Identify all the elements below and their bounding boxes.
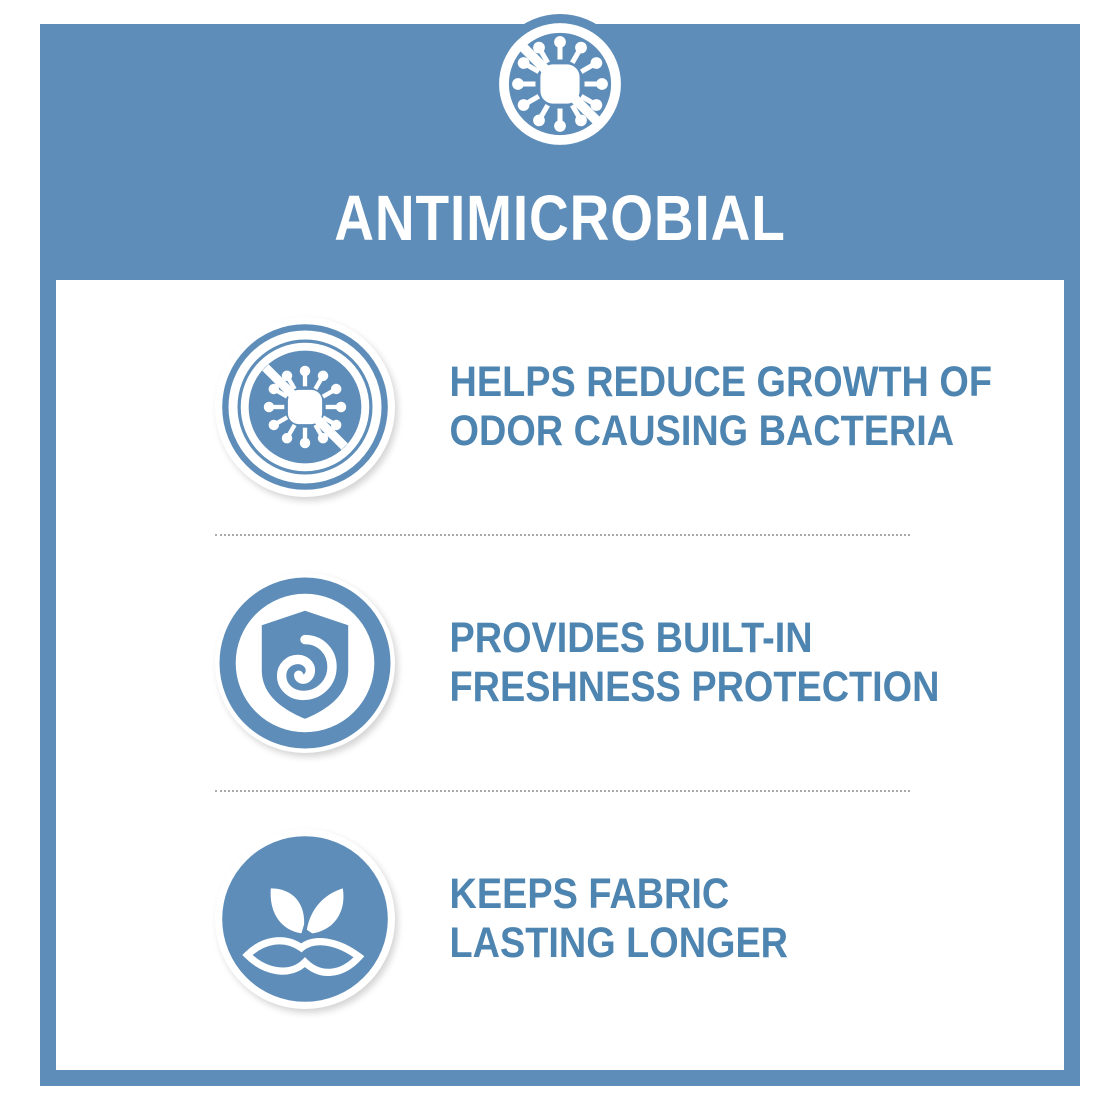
- feature-line-1: HELPS REDUCE GROWTH OF: [450, 358, 992, 407]
- feature-line-2: FRESHNESS PROTECTION: [450, 663, 984, 712]
- feature-text-fabric: KEEPS FABRIC LASTING LONGER: [395, 870, 984, 968]
- row-divider-2: [215, 790, 910, 792]
- antimicrobial-infographic: ANTIMICROBIAL: [0, 0, 1120, 1120]
- features-panel: HELPS REDUCE GROWTH OF ODOR CAUSING BACT…: [56, 280, 1064, 1070]
- leaf-fabric-icon: [215, 829, 395, 1009]
- feature-list: HELPS REDUCE GROWTH OF ODOR CAUSING BACT…: [56, 280, 1064, 1046]
- feature-text-bacteria: HELPS REDUCE GROWTH OF ODOR CAUSING BACT…: [395, 358, 992, 456]
- feature-row-fabric: KEEPS FABRIC LASTING LONGER: [56, 792, 1064, 1046]
- no-bacteria-icon: [490, 14, 630, 154]
- feature-line-1: KEEPS FABRIC: [450, 870, 984, 919]
- feature-row-freshness: PROVIDES BUILT-IN FRESHNESS PROTECTION: [56, 536, 1064, 790]
- no-bacteria-ring-icon: [215, 317, 395, 497]
- row-divider-1: [215, 534, 910, 536]
- feature-line-1: PROVIDES BUILT-IN: [450, 614, 984, 663]
- feature-row-bacteria: HELPS REDUCE GROWTH OF ODOR CAUSING BACT…: [56, 280, 1064, 534]
- feature-line-2: ODOR CAUSING BACTERIA: [450, 407, 992, 456]
- feature-text-freshness: PROVIDES BUILT-IN FRESHNESS PROTECTION: [395, 614, 984, 712]
- page-title: ANTIMICROBIAL: [113, 186, 1007, 250]
- feature-line-2: LASTING LONGER: [450, 919, 984, 968]
- shield-swirl-icon: [215, 573, 395, 753]
